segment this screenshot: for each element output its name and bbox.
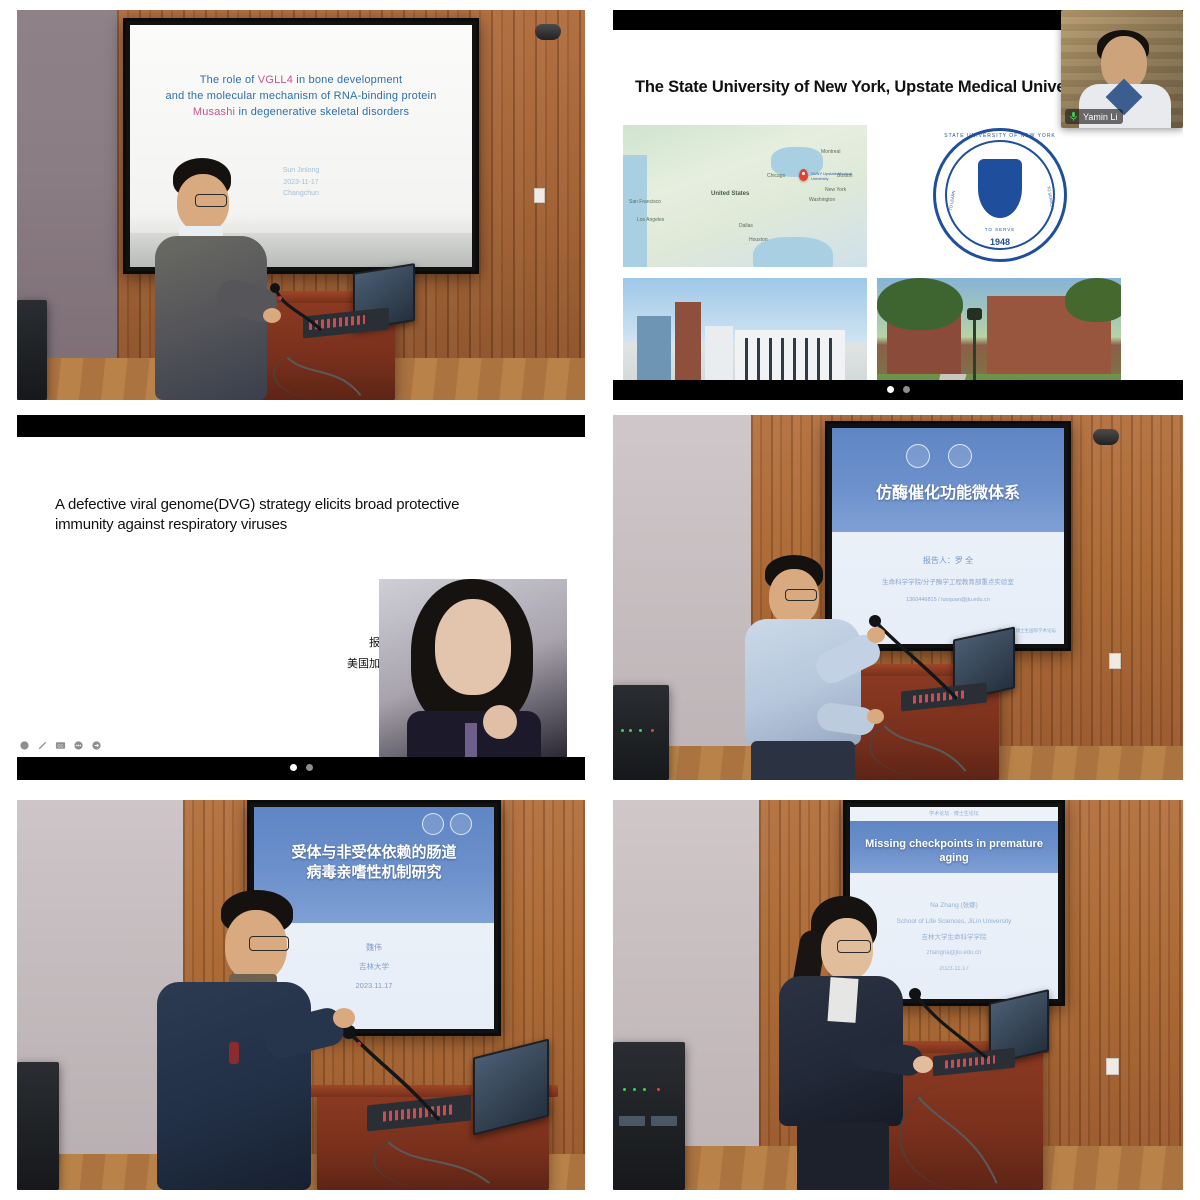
suny-seal-logo: STATE UNIVERSITY OF NEW YORK 1948 TO LEA… — [933, 128, 1067, 262]
meeting-top-bar — [17, 415, 585, 437]
map-city-label-chicago: Chicago — [767, 173, 785, 179]
seal-shield — [978, 159, 1022, 218]
laptop-screen — [475, 1041, 547, 1133]
meeting-bottom-bar — [613, 380, 1183, 400]
presenter-lanyard — [465, 723, 477, 757]
pagination-dot-1[interactable] — [290, 764, 297, 771]
svg-text:CC: CC — [58, 743, 64, 748]
seal-top-text: STATE UNIVERSITY OF NEW YORK — [936, 133, 1064, 139]
status-led — [639, 729, 642, 732]
presenter-head — [435, 599, 511, 695]
cable — [899, 1080, 1031, 1190]
map-city-label-losangeles: Los Angeles — [637, 217, 664, 223]
meeting-viewport: A defective viral genome(DVG) strategy e… — [17, 415, 585, 780]
panel-lecture-aging[interactable]: 学术论坛 · 博士生论坛 Missing checkpoints in prem… — [613, 800, 1183, 1190]
map-country-label: United States — [711, 191, 749, 197]
wall-outlet — [1106, 1058, 1119, 1075]
glasses-icon — [837, 940, 871, 953]
lecture-room-scene: The role of VGLL4 in bone development an… — [17, 10, 585, 400]
torso — [157, 982, 311, 1190]
sweater-logo — [229, 1042, 239, 1064]
building — [675, 302, 701, 380]
tree — [877, 278, 963, 330]
meeting-bottom-bar — [17, 757, 585, 780]
usa-map-image: United States Chicago New York Washingto… — [623, 125, 867, 267]
presenter-video-tile[interactable] — [379, 579, 567, 757]
pagination-dots[interactable] — [613, 386, 1183, 393]
pagination-dot-2[interactable] — [903, 386, 910, 393]
lecture-room-scene: 仿酶催化功能微体系 报告人：罗 全 生命科学学院/分子酶学工程教育部重点实验室 … — [613, 415, 1183, 780]
slide-title: Missing checkpoints in premature aging — [850, 837, 1058, 866]
map-city-label-sanfrancisco: San Francisco — [629, 199, 661, 205]
panel-meeting-suny[interactable]: The State University of New York, Upstat… — [613, 10, 1183, 400]
hospital-photo — [623, 278, 867, 380]
panel-lecture-enterovirus[interactable]: 受体与非受体依赖的肠道 病毒亲嗜性机制研究 魏伟 吉林大学 2023.11.17 — [17, 800, 585, 1190]
panel-lecture-enzyme[interactable]: 仿酶催化功能微体系 报告人：罗 全 生命科学学院/分子酶学工程教育部重点实验室 … — [613, 415, 1183, 780]
equipment-rack — [613, 1042, 685, 1190]
participant-name-badge: Yamin Li — [1065, 109, 1123, 124]
slide-title-line-2: 病毒亲嗜性机制研究 — [254, 863, 494, 883]
pagination-dot-2[interactable] — [306, 764, 313, 771]
hand-holding-mic — [867, 627, 885, 643]
status-led — [623, 1088, 626, 1091]
annotation-toolbar[interactable]: CC — [19, 740, 102, 751]
university-logo-icon — [422, 813, 444, 835]
equipment-rack — [17, 1062, 59, 1190]
participant-name: Yamin Li — [1083, 112, 1117, 122]
microphone-icon — [1068, 111, 1079, 122]
map-water-ocean-left — [623, 155, 647, 267]
security-camera-icon — [1093, 429, 1119, 445]
pagination-dots[interactable] — [17, 764, 585, 771]
blouse — [827, 977, 858, 1023]
more-options-icon[interactable] — [73, 740, 84, 751]
slide-title-line-1: A defective viral genome(DVG) strategy e… — [55, 495, 561, 515]
building-facade-stripes — [745, 338, 837, 380]
lamp-head — [967, 308, 982, 320]
speaker — [741, 555, 889, 780]
closed-caption-icon[interactable]: CC — [55, 740, 66, 751]
map-city-label-newyork: New York — [825, 187, 846, 193]
lecture-room-scene: 学术论坛 · 博士生论坛 Missing checkpoints in prem… — [613, 800, 1183, 1190]
pagination-dot-1[interactable] — [887, 386, 894, 393]
slide-title: 仿酶催化功能微体系 — [832, 484, 1064, 505]
university-logo-icon — [906, 444, 930, 468]
photo-collage: The role of VGLL4 in bone development an… — [0, 0, 1200, 1200]
seal-year: 1948 — [936, 237, 1064, 247]
equipment-rack — [17, 300, 47, 400]
cable — [869, 715, 991, 777]
participant-video-tile[interactable]: Yamin Li — [1061, 10, 1183, 128]
slide-title: The role of VGLL4 in bone development an… — [130, 73, 472, 121]
wall-outlet — [534, 188, 545, 203]
map-pin-label: SUNY Upstate Medical University — [811, 171, 867, 181]
hand — [867, 709, 884, 724]
map-pin-icon — [799, 169, 808, 181]
slide-title-highlight-2: Musashi — [193, 106, 235, 118]
speaker — [145, 158, 285, 400]
wall-outlet — [1109, 653, 1121, 669]
legs — [797, 1122, 889, 1190]
presenter-hand — [483, 705, 517, 739]
status-led — [657, 1088, 660, 1091]
cable — [373, 1130, 515, 1190]
pen-icon[interactable] — [37, 740, 48, 751]
slide-header-small: 学术论坛 · 博士生论坛 — [850, 807, 1058, 817]
slide-title-line-2: immunity against respiratory viruses — [55, 515, 561, 535]
arrow-right-icon[interactable] — [91, 740, 102, 751]
hand — [263, 308, 281, 323]
hand — [913, 1056, 933, 1073]
slide-title: A defective viral genome(DVG) strategy e… — [55, 495, 561, 536]
seal-motto-bottom: TO SERVE — [936, 227, 1064, 232]
department-logo-icon — [948, 444, 972, 468]
campus-photo: UPSTATE — [877, 278, 1121, 380]
glasses-icon — [785, 589, 817, 601]
map-city-label-houston: Houston — [749, 237, 768, 243]
rack-display — [651, 1116, 677, 1126]
building — [705, 326, 733, 380]
slide-title-line-2: and the molecular mechanism of RNA-bindi… — [130, 89, 472, 105]
department-logo-icon — [450, 813, 472, 835]
building — [637, 316, 671, 380]
microphone-icon — [335, 1018, 455, 1128]
panel-meeting-dvg[interactable]: A defective viral genome(DVG) strategy e… — [17, 415, 585, 780]
status-led — [651, 729, 654, 732]
status-led — [643, 1088, 646, 1091]
speaker — [137, 890, 337, 1190]
legs — [751, 741, 855, 780]
map-city-label-washington: Washington — [809, 197, 835, 203]
lamp-post — [973, 316, 976, 380]
status-led — [621, 729, 624, 732]
slide-title-line-1: 受体与非受体依赖的肠道 — [254, 843, 494, 863]
map-city-label-montreal: Montreal — [821, 149, 840, 155]
glasses-icon — [249, 936, 289, 951]
shared-slide: A defective viral genome(DVG) strategy e… — [17, 437, 585, 757]
status-led — [629, 729, 632, 732]
security-camera-icon — [535, 24, 561, 40]
lecture-room-scene: 受体与非受体依赖的肠道 病毒亲嗜性机制研究 魏伟 吉林大学 2023.11.17 — [17, 800, 585, 1190]
panel-lecture-vgll4[interactable]: The role of VGLL4 in bone development an… — [17, 10, 585, 400]
glasses-icon — [195, 194, 227, 207]
circle-icon[interactable] — [19, 740, 30, 751]
equipment-rack — [613, 685, 669, 780]
hand-holding-mic — [333, 1008, 355, 1028]
rack-display — [619, 1116, 645, 1126]
cable — [273, 348, 385, 400]
slide-title-band — [832, 428, 1064, 532]
slide-title: 受体与非受体依赖的肠道 病毒亲嗜性机制研究 — [254, 843, 494, 882]
status-led — [633, 1088, 636, 1091]
tree — [1065, 278, 1121, 322]
slide-title-highlight-1: VGLL4 — [258, 74, 293, 86]
map-city-label-dallas: Dallas — [739, 223, 753, 229]
meeting-viewport: The State University of New York, Upstat… — [613, 10, 1183, 400]
